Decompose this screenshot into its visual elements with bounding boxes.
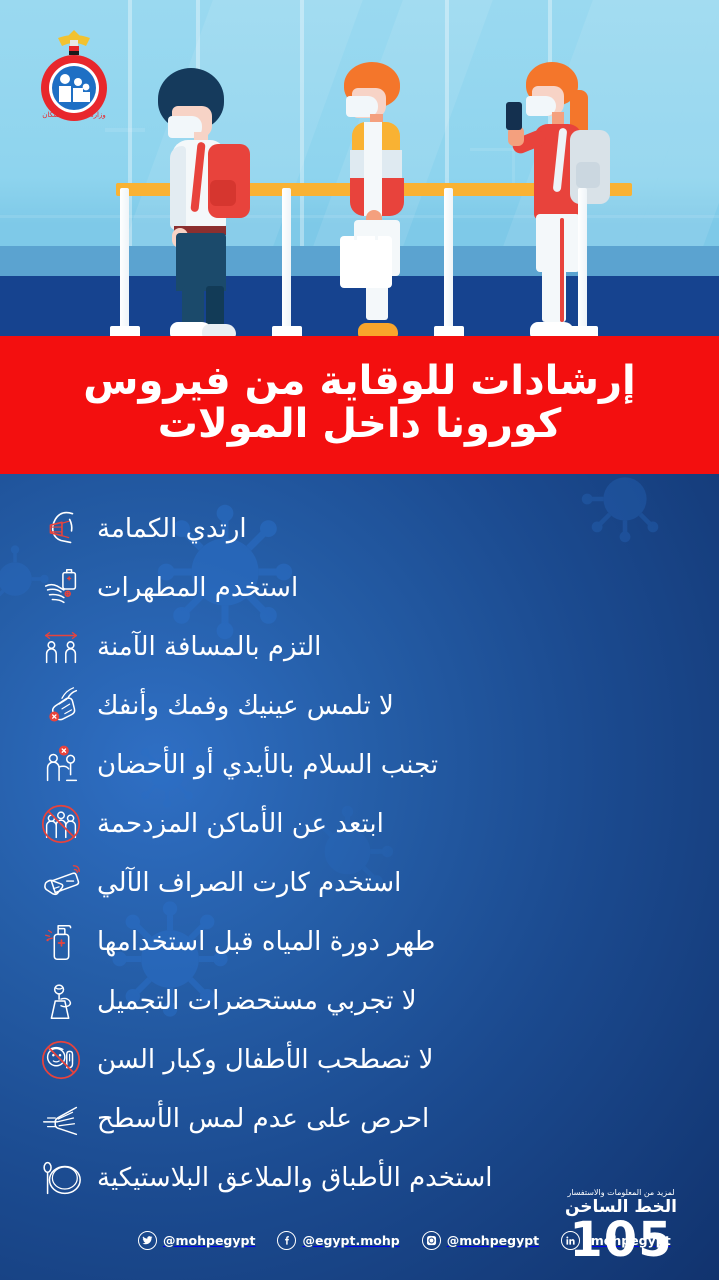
guideline-text: استخدم المطهرات <box>97 574 298 603</box>
no-face-touch-icon <box>37 682 85 730</box>
hotline-block: لمزيد من المعلومات والاستفسار الخط الساخ… <box>541 1188 701 1264</box>
hotline-number: 105 <box>541 1218 701 1264</box>
facebook-handle: @egypt.mohp <box>302 1233 399 1248</box>
face-mask-icon <box>37 505 85 553</box>
queue-post <box>568 186 598 338</box>
guideline-item: ابتعد عن الأماكن المزدحمة <box>37 797 697 851</box>
ministry-logo: وزارة الصحة والسكان <box>28 24 120 126</box>
guideline-text: لا تلمس عينيك وفمك وأنفك <box>97 692 394 721</box>
instagram-icon <box>422 1231 441 1250</box>
trousers <box>176 233 226 291</box>
queue-post <box>434 186 464 338</box>
shopping-bag <box>340 236 392 288</box>
social-link-instagram[interactable]: @mohpegypt <box>422 1231 539 1250</box>
no-touch-surface-icon <box>37 1095 85 1143</box>
no-children-elderly-icon <box>37 1036 85 1084</box>
no-cosmetics-icon <box>37 977 85 1025</box>
sanitizer-bottle-icon <box>37 918 85 966</box>
jacket-front-panel <box>364 122 382 216</box>
queue-post <box>110 186 140 338</box>
queue-post <box>272 186 302 338</box>
title-banner: إرشادات للوقاية من فيروس كورونا داخل الم… <box>0 336 719 474</box>
guideline-item: لا تصطحب الأطفال وكبار السن <box>37 1033 697 1087</box>
guideline-item: استخدم كارت الصراف الآلي <box>37 856 697 910</box>
illustration-scene: وزارة الصحة والسكان <box>0 0 719 340</box>
guideline-item: التزم بالمسافة الآمنة <box>37 620 697 674</box>
hand-sanitizer-icon <box>37 564 85 612</box>
footer: @mohpegypt @egypt.mohp @mohpegypt /mohpe… <box>0 1180 719 1280</box>
hotline-subtitle: لمزيد من المعلومات والاستفسار <box>541 1188 701 1198</box>
logo-caption: وزارة الصحة والسكان <box>42 111 105 119</box>
guideline-text: استخدم كارت الصراف الآلي <box>97 869 401 898</box>
guideline-text: التزم بالمسافة الآمنة <box>97 633 321 662</box>
guideline-text: طهر دورة المياه قبل استخدامها <box>97 928 435 957</box>
social-link-twitter[interactable]: @mohpegypt <box>138 1231 255 1250</box>
contactless-card-icon <box>37 859 85 907</box>
mobile-phone <box>506 102 522 130</box>
guidelines-list: ارتدي الكمامة استخدم المطهرات <box>37 502 697 1210</box>
guideline-item: احرص على عدم لمس الأسطح <box>37 1092 697 1146</box>
guideline-text: احرص على عدم لمس الأسطح <box>97 1105 429 1134</box>
social-distance-icon <box>37 623 85 671</box>
person-with-shopping-bag <box>330 60 440 338</box>
twitter-icon <box>138 1231 157 1250</box>
guidelines-panel: ارتدي الكمامة استخدم المطهرات <box>0 474 719 1280</box>
guideline-item: طهر دورة المياه قبل استخدامها <box>37 915 697 969</box>
backpack-pocket <box>210 180 236 206</box>
wall-line <box>105 128 145 132</box>
guideline-text: لا تجربي مستحضرات التجميل <box>97 987 417 1016</box>
leg-back <box>206 286 224 328</box>
guideline-text: لا تصطحب الأطفال وكبار السن <box>97 1046 433 1075</box>
eagle-emblem <box>58 30 90 55</box>
guideline-item: استخدم المطهرات <box>37 561 697 615</box>
guideline-text: ارتدي الكمامة <box>97 515 247 544</box>
no-handshake-hug-icon <box>37 741 85 789</box>
no-crowd-icon <box>37 800 85 848</box>
guideline-item: تجنب السلام بالأيدي أو الأحضان <box>37 738 697 792</box>
guideline-text: تجنب السلام بالأيدي أو الأحضان <box>97 751 438 780</box>
shopping-bag-handle <box>354 222 378 240</box>
facebook-icon <box>277 1231 296 1250</box>
jacket-arm <box>170 146 186 230</box>
social-link-facebook[interactable]: @egypt.mohp <box>277 1231 399 1250</box>
guideline-item: لا تجربي مستحضرات التجميل <box>37 974 697 1028</box>
backpack-pocket <box>576 162 600 188</box>
guideline-item: لا تلمس عينيك وفمك وأنفك <box>37 679 697 733</box>
page-title-line-1: إرشادات للوقاية من فيروس <box>83 360 635 403</box>
leg-stripe <box>560 218 564 322</box>
guideline-text: ابتعد عن الأماكن المزدحمة <box>97 810 384 839</box>
page-title-line-2: كورونا داخل المولات <box>158 403 562 446</box>
guideline-item: ارتدي الكمامة <box>37 502 697 556</box>
person-with-red-backpack <box>150 68 270 338</box>
instagram-handle: @mohpegypt <box>447 1233 539 1248</box>
twitter-handle: @mohpegypt <box>163 1233 255 1248</box>
